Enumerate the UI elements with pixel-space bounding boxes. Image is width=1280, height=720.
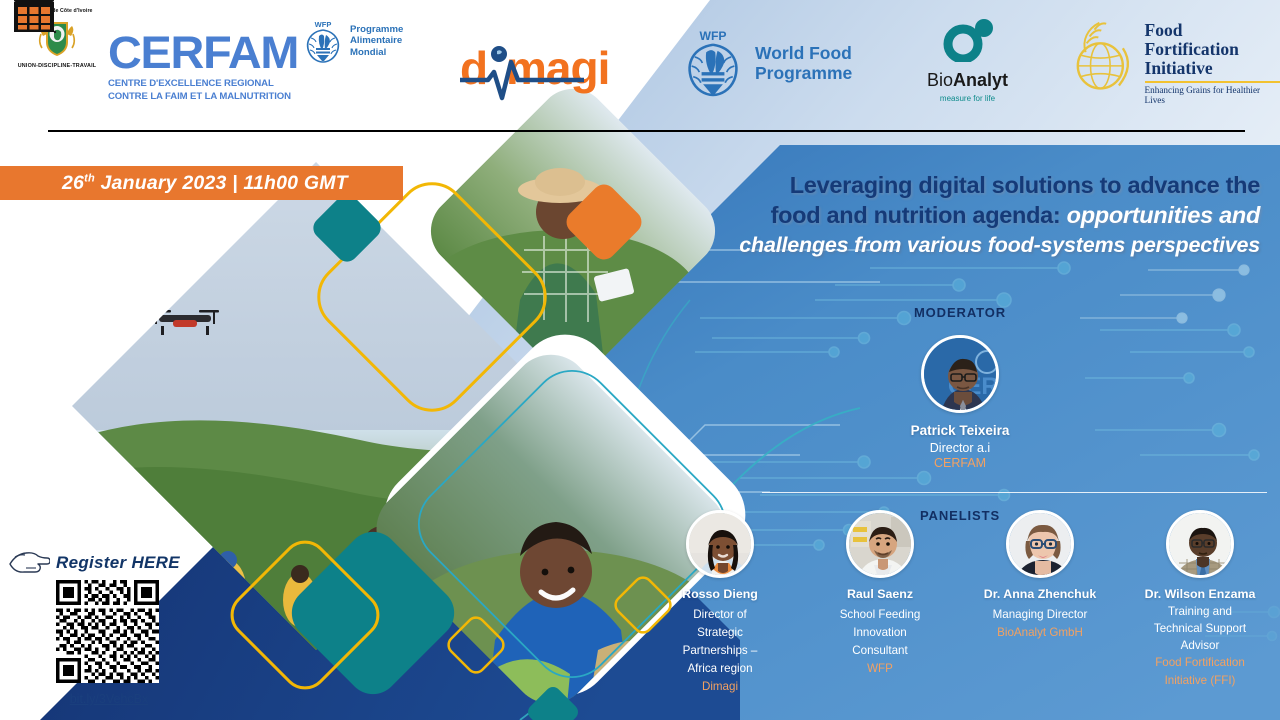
emblem-bottom-text: UNION-DISCIPLINE-TRAVAIL (14, 63, 100, 69)
svg-text:magi: magi (506, 42, 609, 94)
webinar-flyer: République de Côte d'Ivoire UNION-DISCIP… (0, 0, 1280, 720)
register-cta[interactable]: Register HERE (8, 548, 180, 578)
bioanalyt-logo: BioAnalyt measure for life (915, 18, 1020, 103)
ffi-divider (1145, 81, 1280, 83)
panelist-org: Food Fortification Initiative (FFI) (1155, 654, 1245, 690)
wfp-wreath-icon: WFP (300, 18, 346, 64)
wfp-fr-line3: Mondial (350, 47, 403, 59)
cerfam-wordmark: CERFAM (108, 30, 306, 76)
list-item: Rosso Dieng Director of Strategic Partne… (640, 510, 800, 696)
food-fortification-initiative-logo: Food Fortification Initiative Enhancing … (1068, 18, 1280, 105)
title-line-3: challenges from various food-systems per… (640, 230, 1260, 260)
moderator-avatar: CERFA (921, 335, 999, 413)
cerfam-logo: CERFAM CENTRE D'EXCELLENCE REGIONAL CONT… (108, 30, 298, 101)
svg-text:d: d (460, 42, 487, 94)
panelist-avatar (846, 510, 914, 578)
moderator-block: MODERATOR CERFA (640, 305, 1280, 470)
panelist-role: Director of Strategic Partnerships – Afr… (683, 606, 758, 678)
ffi-line1: Food (1145, 21, 1280, 40)
wfp-en-line2: Programme (755, 63, 852, 83)
list-item: Dr. Anna Zhenchuk Managing Director BioA… (960, 510, 1120, 696)
panelist-role: Managing Director (993, 606, 1088, 624)
wfp-english-logo: WFP World Food Programme (678, 26, 852, 100)
panelist-avatar (686, 510, 754, 578)
section-divider (762, 492, 1267, 493)
title-line-2-italic: opportunities and (1060, 202, 1260, 228)
svg-text:WFP: WFP (315, 20, 332, 29)
ffi-line3: Initiative (1145, 59, 1280, 78)
speakers-section: MODERATOR CERFA (640, 305, 1280, 720)
moderator-org: CERFAM (640, 456, 1280, 470)
panelist-name: Dr. Wilson Enzama (1145, 587, 1256, 601)
panelist-portrait (1169, 513, 1234, 578)
panelist-portrait (689, 513, 754, 578)
title-line-2: food and nutrition agenda: opportunities… (640, 200, 1260, 230)
title-line-1: Leveraging digital solutions to advance … (640, 170, 1260, 200)
header-divider (48, 130, 1245, 132)
registration-link[interactable]: bit.ly/3VehcBx (50, 692, 168, 706)
partner-logo-bar: République de Côte d'Ivoire UNION-DISCIP… (0, 0, 1280, 132)
list-item: Raul Saenz School Feeding Innovation Con… (800, 510, 960, 696)
cerfam-tagline-line2: CONTRE LA FAIM ET LA MALNUTRITION (108, 90, 302, 102)
moderator-section-label: MODERATOR (640, 305, 1280, 320)
pointing-hand-icon (8, 548, 50, 578)
moderator-portrait: CERFA (924, 338, 999, 413)
panelist-role: Training and Technical Support Advisor (1154, 603, 1246, 654)
panelists-list: Rosso Dieng Director of Strategic Partne… (640, 510, 1280, 696)
dimagi-logo: d magi (458, 34, 628, 104)
panelist-name: Dr. Anna Zhenchuk (984, 587, 1096, 601)
wfp-french-logo: WFP Programme Alimentaire Mondial (300, 18, 403, 64)
wfp-wreath-icon-en: WFP (678, 26, 748, 100)
bioanalyt-wordmark: BioAnalyt (915, 70, 1020, 91)
qr-code[interactable] (56, 580, 159, 683)
cerfam-tagline-line1: CENTRE D'EXCELLENCE REGIONAL (108, 77, 302, 89)
wfp-en-line1: World Food (755, 43, 852, 63)
ffi-tagline: Enhancing Grains for Healthier Lives (1145, 85, 1280, 105)
panelist-avatar (1166, 510, 1234, 578)
panelist-role: School Feeding Innovation Consultant (840, 606, 921, 660)
wfp-fr-line2: Alimentaire (350, 35, 403, 47)
register-label: Register HERE (56, 553, 180, 573)
list-item: Dr. Wilson Enzama Training and Technical… (1120, 510, 1280, 696)
svg-text:WFP: WFP (699, 29, 726, 43)
moderator-name: Patrick Teixeira (640, 423, 1280, 438)
title-line-2-bold: food and nutrition agenda: (771, 202, 1061, 228)
ffi-globe-wheat-icon (1068, 18, 1139, 102)
bioanalyt-tagline: measure for life (915, 94, 1020, 103)
panelist-portrait (1009, 513, 1074, 578)
panelist-avatar (1006, 510, 1074, 578)
panelist-name: Rosso Dieng (682, 587, 758, 601)
ffi-line2: Fortification (1145, 40, 1280, 59)
moderator-role: Director a.i (640, 441, 1280, 455)
panelist-org: BioAnalyt GmbH (997, 624, 1083, 642)
bioanalyt-mark-icon (940, 18, 996, 62)
panelist-org: WFP (867, 660, 893, 678)
panelist-org: Dimagi (702, 678, 738, 696)
wfp-fr-line1: Programme (350, 24, 403, 36)
event-date-banner: 26th January 2023 | 11h00 GMT (0, 166, 403, 200)
event-title: Leveraging digital solutions to advance … (640, 170, 1260, 260)
event-date-text: 26th January 2023 | 11h00 GMT (62, 172, 348, 195)
panelist-portrait (849, 513, 914, 578)
panelist-name: Raul Saenz (847, 587, 913, 601)
calendar-icon (12, 0, 56, 33)
